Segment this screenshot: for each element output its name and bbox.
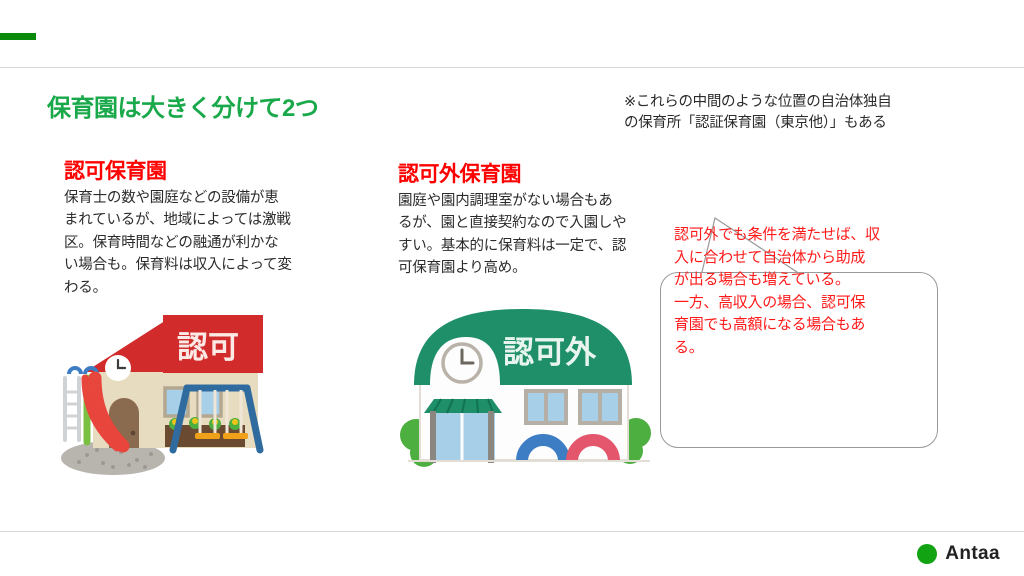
supplementary-note: ※これらの中間のような位置の自治体独自 の保育所「認証保育園（東京他）」もある — [624, 92, 996, 134]
body-line: い場合も。保育料は収入によって変 — [64, 254, 364, 276]
supplementary-note-line: の保育所「認証保育園（東京他）」もある — [624, 113, 996, 134]
callout-line: 育園でも高額になる場合もあ — [674, 314, 924, 337]
body-line: 保育士の数や園庭などの設備が恵 — [64, 187, 364, 209]
callout-line: 入に合わせて自治体から助成 — [674, 247, 924, 270]
body-line: すい。基本的に保育料は一定で、認 — [398, 235, 698, 257]
awning-post — [430, 411, 436, 463]
building-sign-text: 認可外 — [503, 335, 597, 371]
body-line: 可保育園より高め。 — [398, 257, 698, 279]
illustration-ninkagai-building: 認可外 — [400, 295, 660, 490]
header-accent-bar — [0, 33, 36, 40]
callout-text: 認可外でも条件を満たせば、収 入に合わせて自治体から助成 が出る場合も増えている… — [674, 224, 924, 359]
house-sign-text: 認可 — [177, 330, 239, 366]
awning-post — [488, 411, 494, 463]
callout-bubble: 認可外でも条件を満たせば、収 入に合わせて自治体から助成 が出る場合も増えている… — [655, 210, 955, 460]
swing-seat — [195, 433, 220, 439]
supplementary-note-line: ※これらの中間のような位置の自治体独自 — [624, 92, 996, 113]
header-divider — [0, 67, 1024, 68]
swing-seat — [223, 433, 248, 439]
brand-circle-icon — [917, 544, 937, 564]
column-heading-ninka: 認可保育園 — [64, 155, 364, 185]
column-body-ninka: 保育士の数や園庭などの設備が恵 まれているが、地域によっては激戦 区。保育時間な… — [64, 187, 364, 299]
footer-divider — [0, 531, 1024, 532]
nursery-house-icon: 認可 — [55, 300, 375, 500]
body-line: まれているが、地域によっては激戦 — [64, 209, 364, 231]
callout-line: る。 — [674, 337, 924, 360]
body-line: るが、園と直接契約なので入園しや — [398, 212, 698, 234]
body-line: わる。 — [64, 277, 364, 299]
body-line: 園庭や園内調理室がない場合もあ — [398, 190, 698, 212]
column-heading-ninkagai: 認可外保育園 — [398, 158, 698, 188]
brand-name: Antaa — [945, 543, 1000, 565]
callout-line: 認可外でも条件を満たせば、収 — [674, 224, 924, 247]
brand-logo: Antaa — [917, 543, 1000, 565]
body-line: 区。保育時間などの融通が利かな — [64, 232, 364, 254]
door-knob — [131, 431, 136, 436]
page-title: 保育園は大きく分けて2つ — [47, 88, 318, 123]
column-ninka: 認可保育園 保育士の数や園庭などの設備が恵 まれているが、地域によっては激戦 区… — [64, 155, 364, 299]
callout-line: 一方、高収入の場合、認可保 — [674, 292, 924, 315]
illustration-ninka-house: 認可 — [55, 300, 375, 500]
callout-line: が出る場合も増えている。 — [674, 269, 924, 292]
column-body-ninkagai: 園庭や園内調理室がない場合もあ るが、園と直接契約なので入園しや すい。基本的に… — [398, 190, 698, 280]
nursery-building-icon: 認可外 — [400, 295, 660, 490]
column-ninkagai: 認可外保育園 園庭や園内調理室がない場合もあ るが、園と直接契約なので入園しや … — [398, 158, 698, 280]
